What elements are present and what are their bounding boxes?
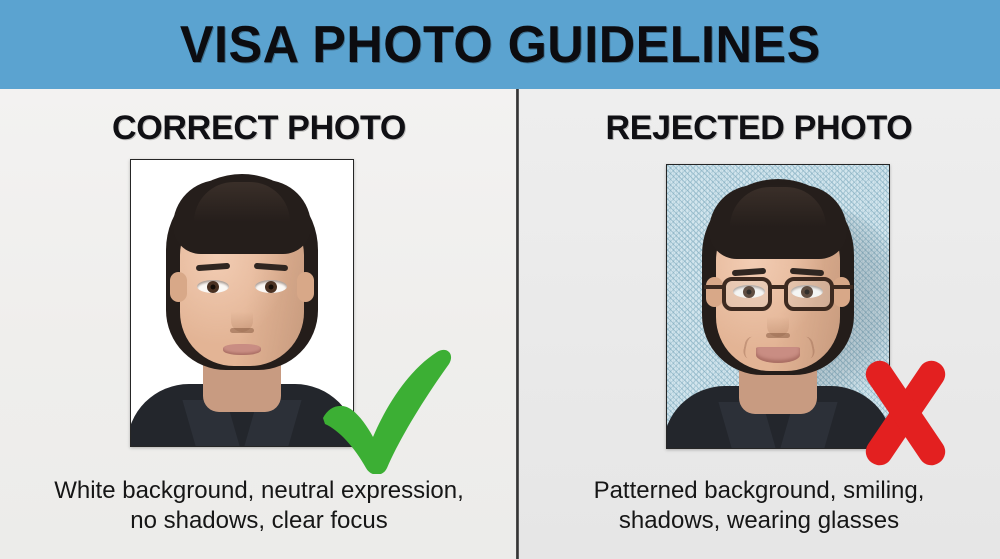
glasses-bridge xyxy=(771,285,785,289)
visa-photo-guidelines-infographic: VISA PHOTO GUIDELINES CORRECT PHOTO xyxy=(0,0,1000,559)
lens-left xyxy=(722,277,772,311)
caption-correct: White background, neutral expression, no… xyxy=(0,476,518,537)
mouth-neutral xyxy=(223,344,261,355)
ear-left xyxy=(170,272,187,302)
comparison-panels: CORRECT PHOTO xyxy=(0,89,1000,559)
page-title: VISA PHOTO GUIDELINES xyxy=(180,19,821,71)
panel-divider xyxy=(516,89,519,559)
caption-rejected-line-1: Patterned background, smiling, xyxy=(518,476,1000,507)
ear-right xyxy=(297,272,314,302)
iris-right xyxy=(265,281,277,293)
lens-right xyxy=(784,277,834,311)
nose xyxy=(767,303,789,337)
caption-rejected: Patterned background, smiling, shadows, … xyxy=(518,476,1000,537)
eye-right xyxy=(255,280,287,293)
eye-left xyxy=(197,280,229,293)
portrait-correct xyxy=(131,160,353,446)
mouth-smiling xyxy=(756,347,800,363)
panel-rejected-photo: REJECTED PHOTO xyxy=(518,89,1000,559)
nose xyxy=(231,298,253,332)
photo-rejected xyxy=(666,164,890,449)
heading-rejected-photo: REJECTED PHOTO xyxy=(518,109,1000,148)
heading-correct-photo: CORRECT PHOTO xyxy=(0,109,518,148)
header-band: VISA PHOTO GUIDELINES xyxy=(0,0,1000,89)
nostrils xyxy=(766,333,790,338)
panel-correct-photo: CORRECT PHOTO xyxy=(0,89,518,559)
portrait-rejected xyxy=(667,165,889,448)
glasses-temple-right xyxy=(833,285,853,289)
nostrils xyxy=(230,328,254,333)
caption-correct-line-2: no shadows, clear focus xyxy=(0,506,518,537)
photo-correct xyxy=(130,159,354,447)
glasses-temple-left xyxy=(704,285,724,289)
caption-correct-line-1: White background, neutral expression, xyxy=(0,476,518,507)
caption-rejected-line-2: shadows, wearing glasses xyxy=(518,506,1000,537)
iris-left xyxy=(207,281,219,293)
